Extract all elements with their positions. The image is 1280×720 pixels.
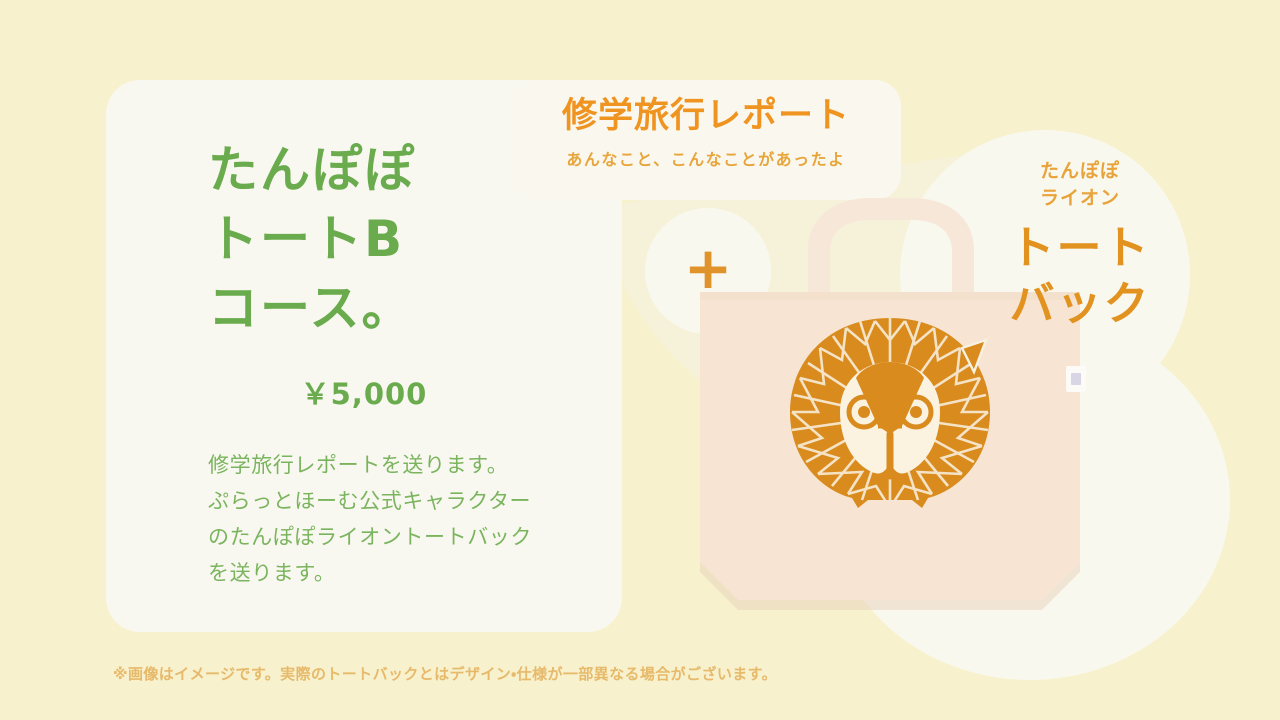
disclaimer-note: ※画像はイメージです。実際のトートバックとはデザイン・仕様が一部異なる場合がござ… xyxy=(113,663,777,684)
report-banner-card: 修学旅行レポート あんなこと、こんなことがあったよ xyxy=(511,80,901,200)
report-banner-title: 修学旅行レポート xyxy=(511,96,901,136)
promo-slide: たんぽぽ トートB コース。 ￥5,000 修学旅行レポートを送ります。 ぷらっ… xyxy=(0,0,1280,720)
report-banner-subtitle: あんなこと、こんなことがあったよ xyxy=(511,146,901,170)
course-description: 修学旅行レポートを送ります。 ぷらっとほーむ公式キャラクター のたんぽぽライオン… xyxy=(208,447,582,591)
course-price: ￥5,000 xyxy=(146,371,582,413)
product-label: たんぽぽ ライオン トート バック xyxy=(975,158,1185,332)
brand-tag-icon xyxy=(1066,366,1086,392)
product-label-big: トート バック xyxy=(975,220,1185,333)
product-label-small: たんぽぽ ライオン xyxy=(975,158,1185,212)
lion-logo-icon xyxy=(790,318,990,508)
